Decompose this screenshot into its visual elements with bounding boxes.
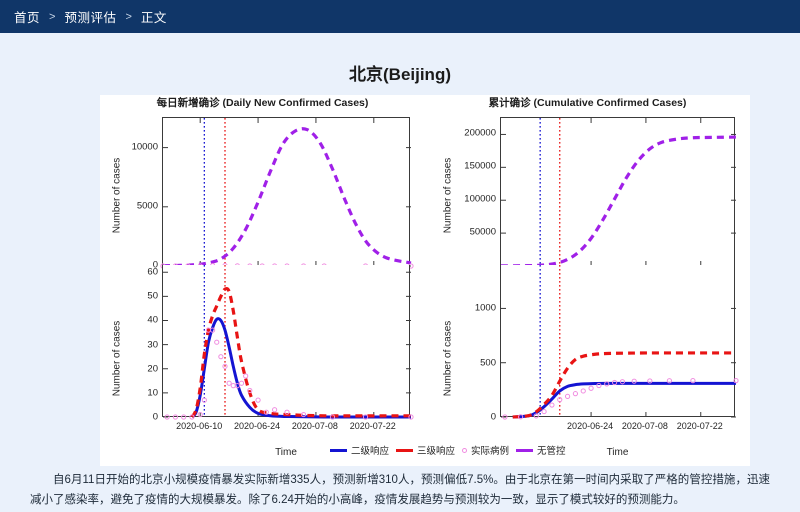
x-tick-label: 2020-07-08 xyxy=(622,421,668,431)
plot-area-cumulative-no-control xyxy=(500,117,735,265)
chart-daily-zoom: Number of cases Time 01020304050602020-0… xyxy=(100,265,425,465)
x-tick-label: 2020-07-22 xyxy=(677,421,723,431)
y-tick-label: 1000 xyxy=(434,303,496,314)
chart-cumulative-zoom: Number of cases Time 050010002020-06-242… xyxy=(425,265,750,465)
legend-label: 三级响应 xyxy=(417,443,455,457)
legend-marker-line-icon xyxy=(330,449,347,452)
axis-label-y-daily-top: Number of cases xyxy=(112,151,123,241)
y-tick-label: 50 xyxy=(96,291,158,302)
y-tick-label: 0 xyxy=(96,412,158,423)
breadcrumb-item-forecast[interactable]: 预测评估 xyxy=(64,7,116,26)
plot-area-daily-zoom xyxy=(162,265,410,417)
plot-area-cumulative-zoom xyxy=(500,265,735,417)
y-tick-label: 50000 xyxy=(434,227,496,238)
plot-canvas-cumulative-zoom xyxy=(501,265,736,417)
chart-cumulative-no-control: 累计确诊 (Cumulative Confirmed Cases) Number… xyxy=(425,95,750,280)
series-无管控 xyxy=(163,129,411,266)
legend-item-3[interactable]: 无管控 xyxy=(516,443,566,457)
x-tick-label: 2020-06-24 xyxy=(567,421,613,431)
y-tick-label: 10 xyxy=(96,387,158,398)
y-tick-label: 30 xyxy=(96,339,158,350)
legend-marker-line-icon xyxy=(516,449,533,452)
x-tick-label: 2020-06-24 xyxy=(234,421,280,431)
legend-item-1[interactable]: 三级响应 xyxy=(396,443,455,457)
breadcrumb: 首页 > 预测评估 > 正文 xyxy=(0,0,800,33)
page-title: 北京(Beijing) xyxy=(0,60,800,85)
y-tick-label: 100000 xyxy=(434,194,496,205)
breadcrumb-separator: > xyxy=(125,11,131,23)
y-tick-label: 60 xyxy=(96,267,158,278)
x-tick-label: 2020-06-10 xyxy=(176,421,222,431)
plot-area-daily-no-control xyxy=(162,117,410,265)
legend-item-2[interactable]: 实际病例 xyxy=(462,443,509,457)
legend-item-0[interactable]: 二级响应 xyxy=(330,443,389,457)
x-tick-label: 2020-07-08 xyxy=(292,421,338,431)
chart-title-cumulative: 累计确诊 (Cumulative Confirmed Cases) xyxy=(425,95,750,110)
y-tick-label: 150000 xyxy=(434,161,496,172)
legend-label: 实际病例 xyxy=(471,443,509,457)
caption-text: 自6月11日开始的北京小规模疫情暴发实际新增335人，预测新增310人，预测偏低… xyxy=(30,470,770,510)
series-无管控 xyxy=(501,137,736,266)
breadcrumb-item-article[interactable]: 正文 xyxy=(141,7,167,26)
chart-legend: 二级响应三级响应实际病例无管控 xyxy=(330,443,566,457)
plot-canvas-daily-zoom xyxy=(163,265,411,417)
chart-title-daily: 每日新增确诊 (Daily New Confirmed Cases) xyxy=(100,95,425,110)
plot-canvas-daily-no-control xyxy=(163,118,411,266)
y-tick-label: 10000 xyxy=(96,141,158,152)
x-tick-label: 2020-07-22 xyxy=(350,421,396,431)
legend-label: 二级响应 xyxy=(351,443,389,457)
breadcrumb-separator: > xyxy=(49,11,55,23)
chart-daily-no-control: 每日新增确诊 (Daily New Confirmed Cases) Numbe… xyxy=(100,95,425,280)
breadcrumb-item-home[interactable]: 首页 xyxy=(14,7,40,26)
y-tick-label: 200000 xyxy=(434,128,496,139)
y-tick-label: 20 xyxy=(96,363,158,374)
legend-marker-line-icon xyxy=(396,449,413,452)
legend-marker-circle-icon xyxy=(462,448,467,453)
figure-panel: 每日新增确诊 (Daily New Confirmed Cases) Numbe… xyxy=(100,95,750,466)
series-三级响应 xyxy=(513,353,736,417)
y-tick-label: 500 xyxy=(434,357,496,368)
legend-label: 无管控 xyxy=(537,443,566,457)
plot-canvas-cumulative-no-control xyxy=(501,118,736,266)
y-tick-label: 40 xyxy=(96,315,158,326)
caption: 自6月11日开始的北京小规模疫情暴发实际新增335人，预测新增310人，预测偏低… xyxy=(0,470,800,510)
y-tick-label: 0 xyxy=(434,412,496,423)
y-tick-label: 5000 xyxy=(96,200,158,211)
